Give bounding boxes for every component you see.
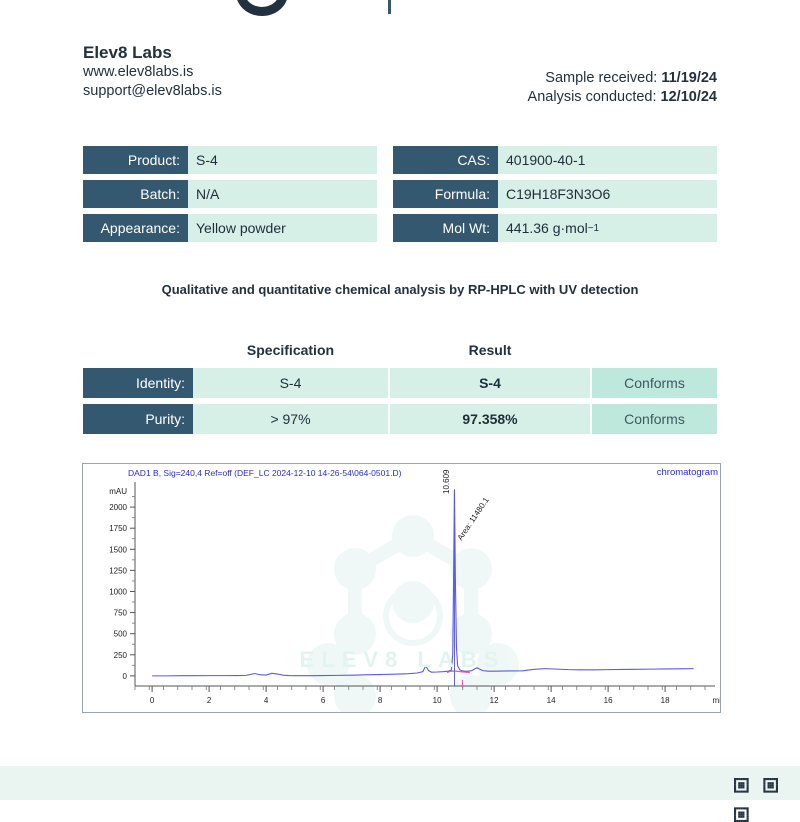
cas-value: 401900-40-1 xyxy=(498,146,717,174)
formula-label: Formula: xyxy=(393,180,498,208)
appearance-value: Yellow powder xyxy=(188,214,377,242)
peak-retention-time-label: 10.609 xyxy=(442,470,451,494)
results-table: Specification Result Identity: S-4 S-4 C… xyxy=(83,338,717,434)
batch-label: Batch: xyxy=(83,180,188,208)
svg-text:1750: 1750 xyxy=(109,524,127,533)
svg-text:1500: 1500 xyxy=(109,545,127,554)
identity-spec: S-4 xyxy=(193,368,388,398)
results-head-blank xyxy=(83,338,193,362)
analysis-conducted-line: Analysis conducted: 12/10/24 xyxy=(528,88,717,107)
grid-spacer xyxy=(377,146,393,174)
svg-text:2000: 2000 xyxy=(109,503,127,512)
molwt-value: 441.36 g·mol−1 xyxy=(498,214,717,242)
column-header-result: Result xyxy=(390,338,590,362)
svg-text:4: 4 xyxy=(264,696,269,705)
purity-conformance: Conforms xyxy=(592,404,717,434)
svg-text:18: 18 xyxy=(661,696,670,705)
product-value: S-4 xyxy=(188,146,377,174)
chromatogram-panel: DAD1 B, Sig=240,4 Ref=off (DEF_LC 2024-1… xyxy=(82,463,721,713)
batch-value: N/A xyxy=(188,180,377,208)
product-info-grid: Product: S-4 CAS: 401900-40-1 Batch: N/A… xyxy=(83,146,717,242)
product-label: Product: xyxy=(83,146,188,174)
svg-text:12: 12 xyxy=(490,696,499,705)
svg-text:500: 500 xyxy=(114,630,128,639)
svg-text:1250: 1250 xyxy=(109,566,127,575)
purity-spec: > 97% xyxy=(193,404,388,434)
analysis-title: Qualitative and quantitative chemical an… xyxy=(0,282,800,297)
svg-text:16: 16 xyxy=(604,696,613,705)
results-head-blank xyxy=(592,338,717,362)
lab-name: Elev8 Labs xyxy=(83,43,717,63)
appearance-label: Appearance: xyxy=(83,214,188,242)
page-footer xyxy=(0,766,800,800)
qr-code-icon[interactable] xyxy=(734,778,778,822)
sample-received-line: Sample received: 11/19/24 xyxy=(528,69,717,88)
analysis-conducted-label: Analysis conducted: xyxy=(528,89,657,105)
svg-text:mAU: mAU xyxy=(109,487,127,496)
grid-spacer xyxy=(377,180,393,208)
identity-label: Identity: xyxy=(83,368,193,398)
purity-result: 97.358% xyxy=(390,404,590,434)
column-header-specification: Specification xyxy=(193,338,388,362)
svg-text:min: min xyxy=(713,696,721,705)
purity-label: Purity: xyxy=(83,404,193,434)
svg-text:2: 2 xyxy=(207,696,212,705)
svg-text:8: 8 xyxy=(378,696,383,705)
chromatogram-watermark-text: ELEV8 LABS xyxy=(83,647,721,673)
certificate-of-analysis-page: Elev8 Labs www.elev8labs.is support@elev… xyxy=(0,0,800,800)
grid-spacer xyxy=(377,214,393,242)
svg-text:0: 0 xyxy=(150,696,155,705)
analysis-conducted-value: 12/10/24 xyxy=(661,89,717,105)
svg-text:14: 14 xyxy=(547,696,556,705)
chromatogram-plot: 025050075010001250150017502000mAU0246810… xyxy=(83,464,721,713)
svg-text:6: 6 xyxy=(321,696,326,705)
sample-received-label: Sample received: xyxy=(545,70,657,86)
sample-received-value: 11/19/24 xyxy=(661,70,717,86)
cas-label: CAS: xyxy=(393,146,498,174)
identity-conformance: Conforms xyxy=(592,368,717,398)
molwt-label: Mol Wt: xyxy=(393,214,498,242)
svg-text:10: 10 xyxy=(433,696,442,705)
svg-text:750: 750 xyxy=(114,609,128,618)
svg-text:0: 0 xyxy=(123,672,128,681)
document-header: Elev8 Labs www.elev8labs.is support@elev… xyxy=(83,43,717,105)
svg-text:1000: 1000 xyxy=(109,587,127,596)
molwt-exponent: −1 xyxy=(588,223,599,234)
date-block: Sample received: 11/19/24 Analysis condu… xyxy=(528,69,717,107)
identity-result: S-4 xyxy=(390,368,590,398)
formula-value: C19H18F3N3O6 xyxy=(498,180,717,208)
molwt-number: 441.36 g·mol xyxy=(506,220,588,236)
